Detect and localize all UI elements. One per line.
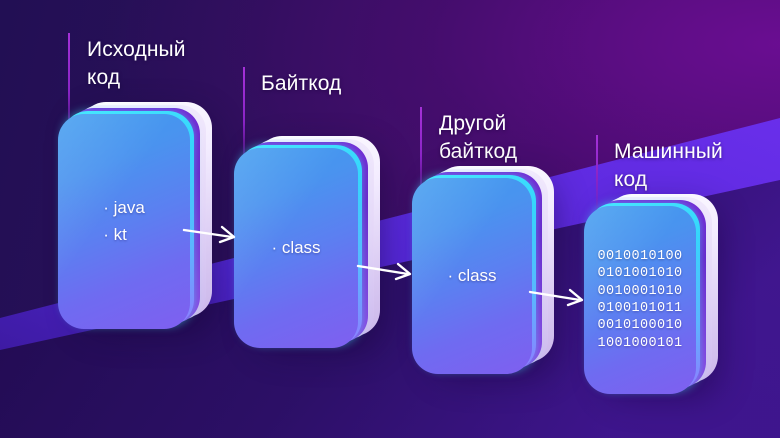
stage-label-other-bytecode: Другой байткод (428, 110, 517, 165)
arrow-bytecode-to-other-bytecode (356, 254, 422, 288)
stage-card-bytecode: · class (234, 142, 358, 342)
stage-label-machine-code: Машинный код (603, 138, 723, 193)
card-face-machine-code: 0010010100 0101001010 0010001010 0100101… (584, 206, 696, 394)
stage-card-source-code: · java · kt (58, 108, 190, 323)
compilation-pipeline-diagram: Исходный код Байткод Другой байткод Маши… (0, 0, 780, 438)
stage-card-machine-code: 0010010100 0101001010 0010001010 0100101… (584, 200, 696, 388)
arrow-source-to-bytecode (182, 218, 246, 252)
card-content-machine-code: 0010010100 0101001010 0010001010 0100101… (597, 248, 682, 352)
card-content-source-code: · java · kt (103, 195, 145, 248)
stage-label-bytecode: Байткод (250, 70, 341, 98)
stage-card-other-bytecode: · class (412, 172, 532, 368)
card-face-other-bytecode: · class (412, 178, 532, 374)
card-face-source-code: · java · kt (58, 114, 190, 329)
card-face-bytecode: · class (234, 148, 358, 348)
arrow-other-bytecode-to-machine-code (528, 280, 594, 314)
card-content-other-bytecode: · class (447, 263, 496, 289)
stage-label-source-code: Исходный код (76, 36, 186, 91)
card-content-bytecode: · class (271, 235, 320, 261)
